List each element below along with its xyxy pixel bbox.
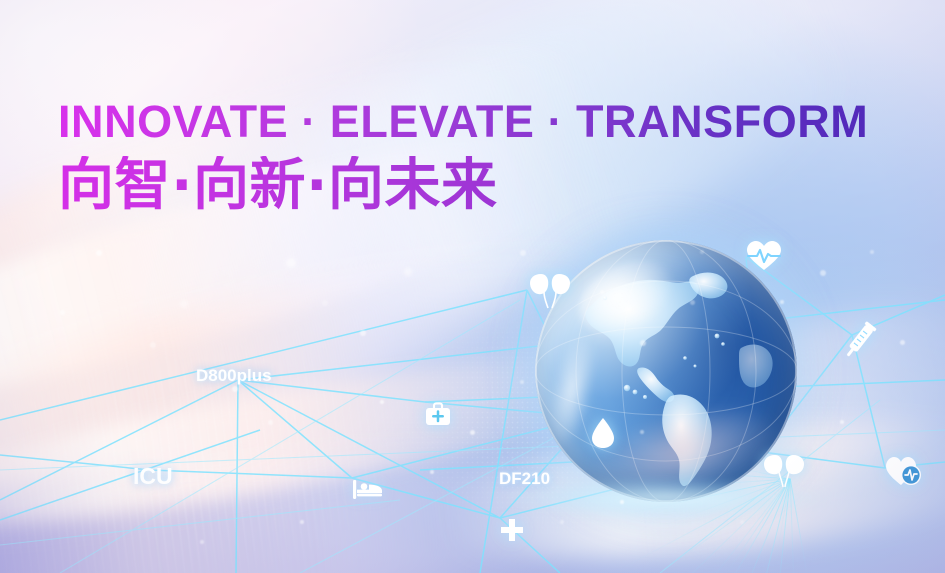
heart-monitor-icon — [885, 455, 923, 487]
bokeh-particle — [404, 268, 412, 276]
bokeh-particle — [232, 386, 238, 392]
bokeh-particle — [640, 430, 644, 434]
bokeh-particle — [200, 540, 204, 544]
bokeh-particle — [700, 250, 704, 254]
bokeh-particle — [560, 520, 564, 524]
product-tag-df210: DF210 — [499, 469, 550, 489]
kidneys-icon-right — [762, 452, 806, 488]
headline-chinese: 向智·向新·向未来 — [58, 156, 918, 216]
bokeh-particle — [180, 300, 188, 308]
headline-english: INNOVATE · ELEVATE · TRANSFORM — [58, 99, 918, 144]
bokeh-particle — [640, 340, 646, 346]
bokeh-particle — [620, 500, 624, 504]
bokeh-particle — [840, 420, 844, 424]
bokeh-particle — [322, 300, 328, 306]
bokeh-particle — [286, 258, 296, 268]
world-globe — [535, 240, 797, 502]
medical-cross-icon — [500, 518, 524, 542]
bokeh-particle — [150, 342, 156, 348]
bokeh-particle — [690, 300, 695, 305]
medical-bag-icon — [425, 402, 451, 426]
bokeh-particle — [780, 300, 784, 304]
bokeh-particle — [520, 380, 524, 384]
bokeh-particle — [520, 250, 526, 256]
bokeh-particle — [870, 250, 874, 254]
hospital-bed-icon — [352, 478, 384, 500]
bokeh-particle — [600, 290, 604, 294]
bokeh-particle — [300, 520, 304, 524]
globe-sphere — [535, 240, 797, 502]
bokeh-particle — [360, 330, 366, 336]
kidneys-icon — [527, 270, 573, 310]
bokeh-particle — [380, 400, 384, 404]
globe-rim — [535, 240, 797, 502]
bokeh-particle — [740, 520, 744, 524]
heart-pulse-icon — [746, 240, 782, 272]
bokeh-particle — [268, 420, 273, 425]
bokeh-particle — [900, 340, 905, 345]
bokeh-particle — [820, 270, 826, 276]
product-tag-icu: ICU — [133, 463, 173, 490]
banner-root: INNOVATE · ELEVATE · TRANSFORM 向智·向新·向未来… — [0, 0, 945, 573]
bokeh-particle — [60, 310, 65, 315]
headline-block: INNOVATE · ELEVATE · TRANSFORM 向智·向新·向未来 — [58, 99, 918, 216]
water-drop-icon — [590, 417, 616, 449]
product-tag-d800plus: D800plus — [196, 366, 272, 386]
bokeh-particle — [96, 250, 102, 256]
bokeh-particle — [470, 430, 475, 435]
bokeh-particle — [430, 470, 434, 474]
